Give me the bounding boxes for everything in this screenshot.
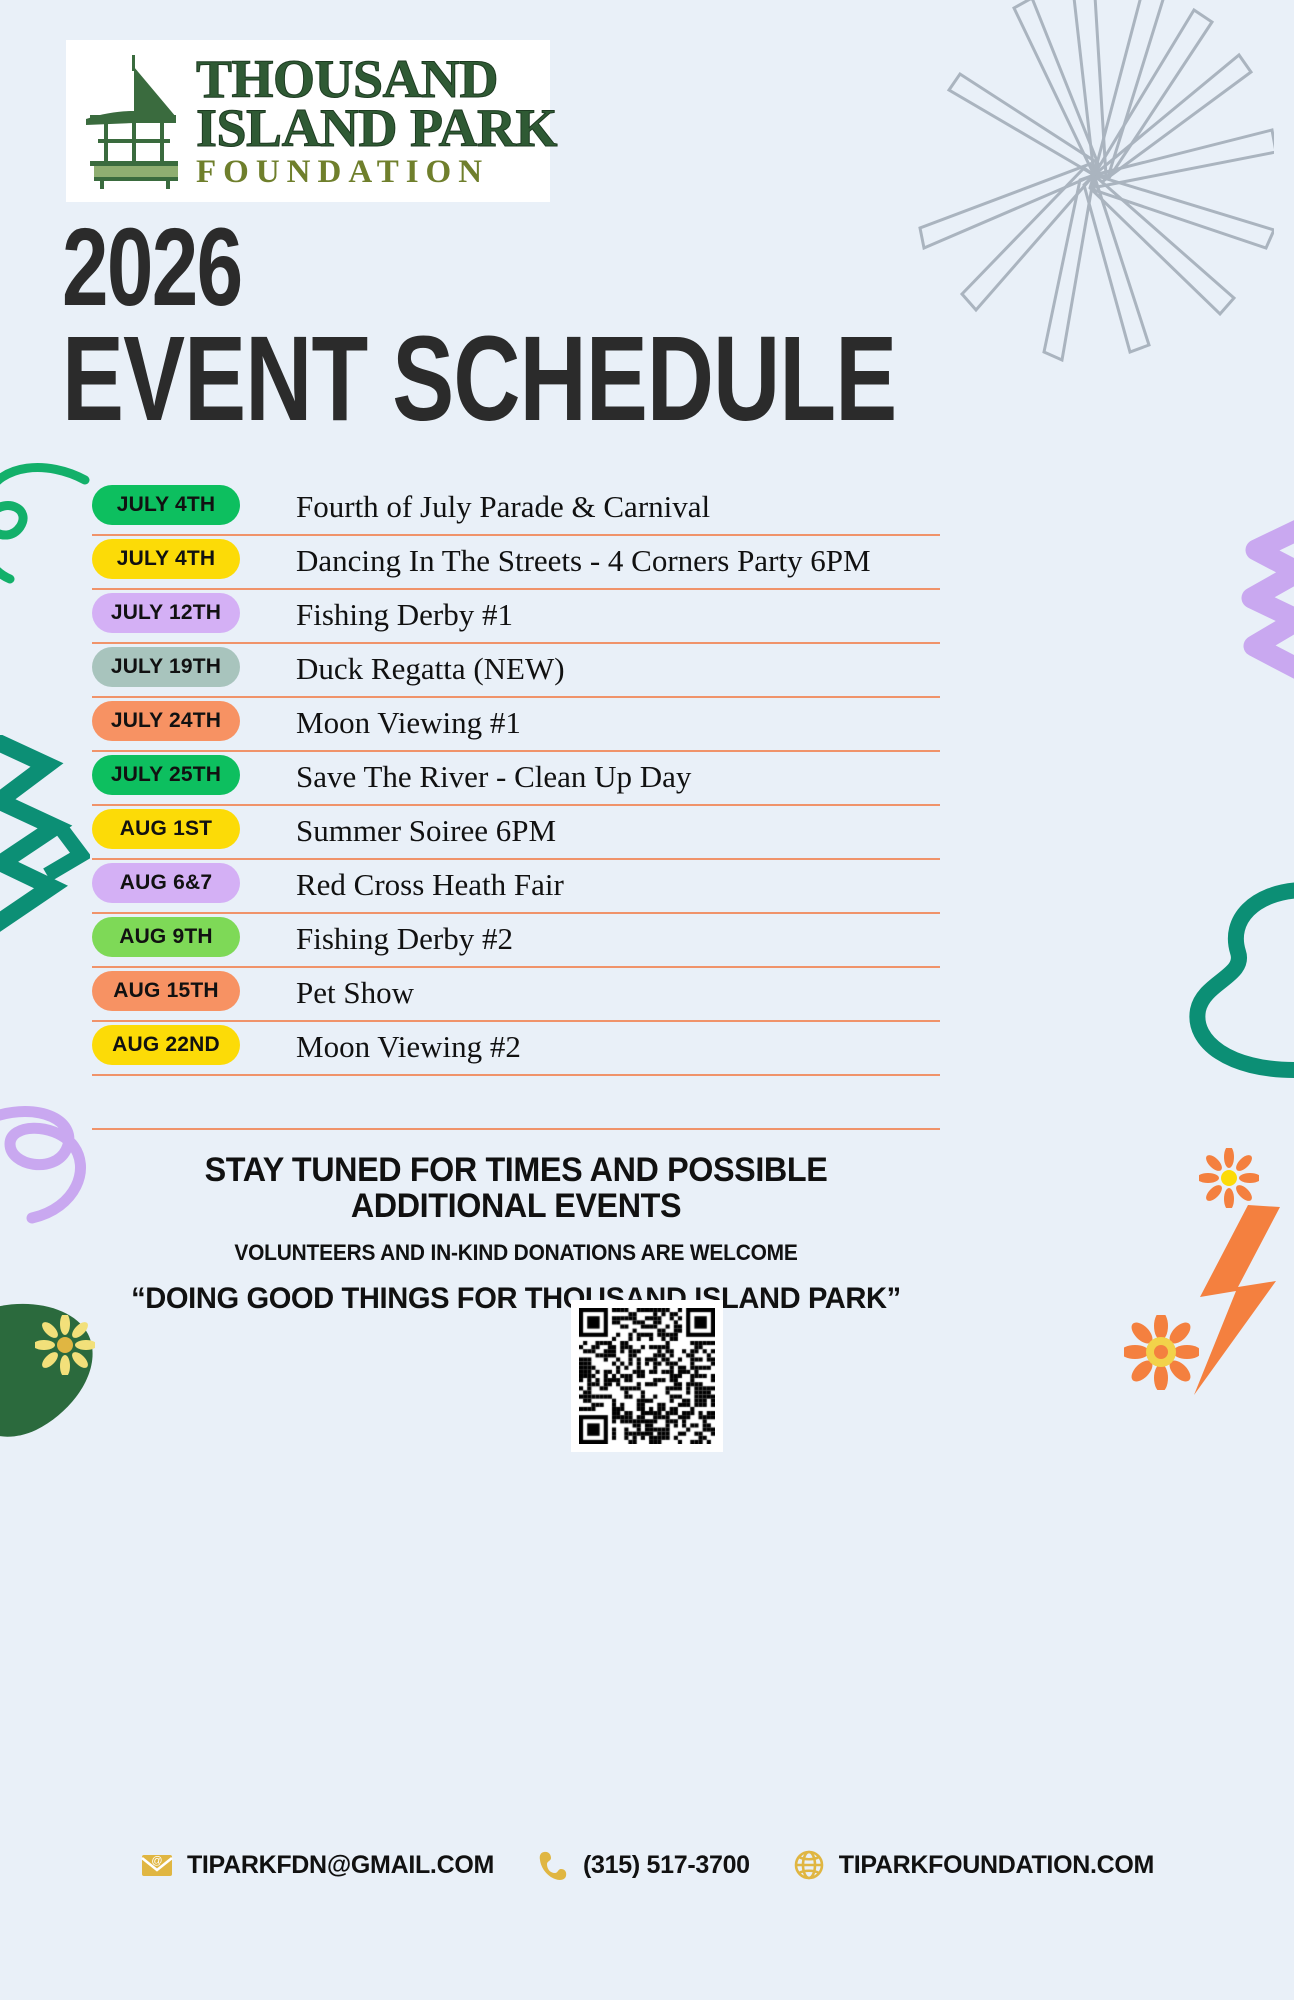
schedule-date-pill: AUG 9TH <box>92 917 240 957</box>
contact-email[interactable]: @ TIPARKFDN@GMAIL.COM <box>140 1848 494 1882</box>
logo-line-1: THOUSAND <box>196 55 557 105</box>
poster-year: 2026 <box>62 212 242 322</box>
schedule-event-name: Fishing Derby #1 <box>296 599 513 630</box>
volunteers-note: VOLUNTEERS AND IN-KIND DONATIONS ARE WEL… <box>113 1240 919 1266</box>
schedule-date-pill: JULY 25TH <box>92 755 240 795</box>
schedule-row: JULY 24THMoon Viewing #1 <box>92 698 940 752</box>
schedule-row: JULY 4THDancing In The Streets - 4 Corne… <box>92 536 940 590</box>
phone-text: (315) 517-3700 <box>583 1851 750 1880</box>
orange-lightning-decoration <box>1184 1205 1284 1395</box>
schedule-date-pill: JULY 4TH <box>92 485 240 525</box>
schedule-row: JULY 19THDuck Regatta (NEW) <box>92 644 940 698</box>
schedule-date-pill: AUG 1ST <box>92 809 240 849</box>
schedule-event-name: Dancing In The Streets - 4 Corners Party… <box>296 545 871 576</box>
schedule-event-name: Pet Show <box>296 977 414 1008</box>
event-schedule-poster: THOUSAND ISLAND PARK FOUNDATION 2026 EVE… <box>0 0 1294 2000</box>
envelope-icon: @ <box>140 1848 174 1882</box>
website-text: TIPARKFOUNDATION.COM <box>839 1851 1154 1880</box>
flower-decoration <box>1124 1315 1199 1390</box>
schedule-date-pill: JULY 24TH <box>92 701 240 741</box>
schedule-row: AUG 15THPet Show <box>92 968 940 1022</box>
page-title: EVENT SCHEDULE <box>62 318 896 439</box>
schedule-row: JULY 4THFourth of July Parade & Carnival <box>92 482 940 536</box>
teal-zigzag-decoration <box>0 735 90 935</box>
schedule-event-name: Moon Viewing #2 <box>296 1031 521 1062</box>
slogan-note: “DOING GOOD THINGS FOR THOUSAND ISLAND P… <box>105 1282 928 1316</box>
flower-decoration <box>1199 1148 1259 1208</box>
lavender-ribbon-decoration <box>1194 520 1294 680</box>
svg-text:@: @ <box>151 1855 162 1867</box>
contact-website[interactable]: TIPARKFOUNDATION.COM <box>792 1848 1154 1882</box>
schedule-date-pill: JULY 12TH <box>92 593 240 633</box>
schedule-event-name: Summer Soiree 6PM <box>296 815 556 846</box>
schedule-event-name: Fourth of July Parade & Carnival <box>296 491 710 522</box>
lavender-scribble-decoration <box>0 1100 100 1230</box>
schedule-date-pill: AUG 6&7 <box>92 863 240 903</box>
organization-logo: THOUSAND ISLAND PARK FOUNDATION <box>66 40 550 202</box>
stay-tuned-note: STAY TUNED FOR TIMES AND POSSIBLE ADDITI… <box>113 1152 919 1224</box>
email-text: TIPARKFDN@GMAIL.COM <box>187 1851 494 1880</box>
dark-green-blob-decoration <box>0 1290 105 1440</box>
schedule-event-name: Save The River - Clean Up Day <box>296 761 691 792</box>
schedule-row: AUG 9THFishing Derby #2 <box>92 914 940 968</box>
schedule-date-pill: JULY 4TH <box>92 539 240 579</box>
qr-code[interactable] <box>571 1300 723 1452</box>
schedule-event-name: Duck Regatta (NEW) <box>296 653 565 684</box>
qr-code-image <box>579 1308 715 1444</box>
globe-icon <box>792 1848 826 1882</box>
schedule-date-pill: AUG 15TH <box>92 971 240 1011</box>
schedule-date-pill: AUG 22ND <box>92 1025 240 1065</box>
teal-loop-decoration <box>1184 880 1294 1080</box>
contact-phone[interactable]: (315) 517-3700 <box>536 1848 750 1882</box>
schedule-row: AUG 22NDMoon Viewing #2 <box>92 1022 940 1076</box>
schedule-row: AUG 1STSummer Soiree 6PM <box>92 806 940 860</box>
logo-line-3: FOUNDATION <box>196 157 557 187</box>
contact-bar: @ TIPARKFDN@GMAIL.COM (315) 517-3700 TIP… <box>0 1848 1294 1882</box>
schedule-event-name: Fishing Derby #2 <box>296 923 513 954</box>
schedule-row: JULY 25THSave The River - Clean Up Day <box>92 752 940 806</box>
phone-icon <box>536 1848 570 1882</box>
flower-decoration <box>35 1315 95 1375</box>
notes-block: STAY TUNED FOR TIMES AND POSSIBLE ADDITI… <box>92 1128 940 1316</box>
schedule-event-name: Red Cross Heath Fair <box>296 869 564 900</box>
logo-line-2: ISLAND PARK <box>196 104 557 154</box>
starburst-decoration <box>894 0 1274 380</box>
pavilion-gazebo-icon <box>80 53 188 189</box>
schedule-event-name: Moon Viewing #1 <box>296 707 521 738</box>
green-squiggle-decoration <box>0 455 90 585</box>
schedule-row: AUG 6&7Red Cross Heath Fair <box>92 860 940 914</box>
schedule-row: JULY 12THFishing Derby #1 <box>92 590 940 644</box>
schedule-date-pill: JULY 19TH <box>92 647 240 687</box>
schedule-list: JULY 4THFourth of July Parade & Carnival… <box>92 482 940 1076</box>
